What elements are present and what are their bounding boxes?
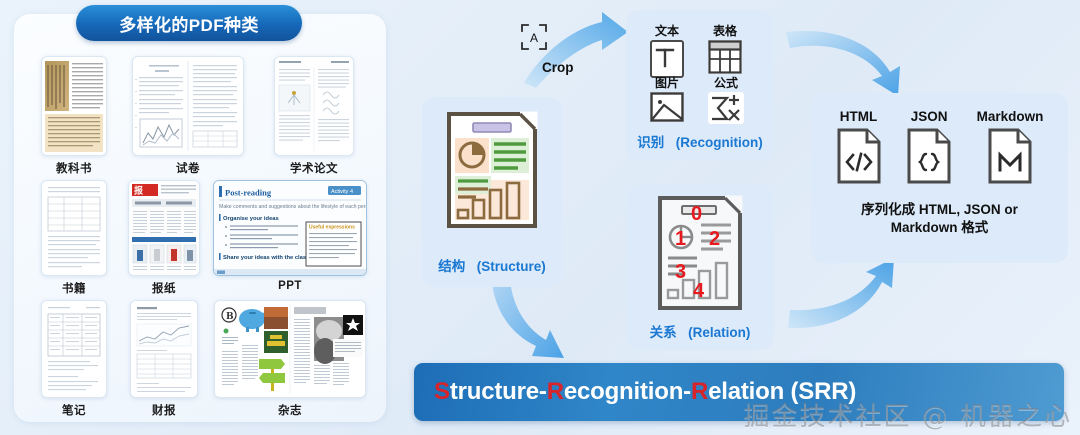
recognition-item-label: 图片 (655, 74, 679, 91)
output-format-markdown[interactable]: Markdown (977, 109, 1044, 185)
relation-label: 关系 (Relation) (626, 321, 774, 341)
pdf-card-label: 教科书 (56, 160, 92, 176)
pdf-types-panel: 多样化的PDF种类 (14, 14, 386, 422)
output-format-label: Markdown (977, 109, 1044, 124)
output-format-json[interactable]: JSON (906, 109, 952, 185)
thumbnail-finance (130, 300, 198, 398)
output-format-list: HTML JSON (811, 109, 1068, 185)
thumbnail-slide: Post-reading Activity 4 Make comments an… (213, 180, 367, 276)
relation-marker-3: 3 (675, 261, 686, 283)
output-caption: 序列化成 HTML, JSON or Markdown 格式 (811, 201, 1068, 237)
pdf-card-label: 笔记 (62, 402, 86, 418)
srr-pipeline-diagram: A Crop (396, 0, 1080, 435)
recognition-item-formula[interactable]: 公式 (708, 74, 744, 124)
pdf-card-exam[interactable]: 试卷 (124, 56, 252, 176)
output-format-label: HTML (840, 109, 878, 124)
svg-text:B: B (226, 312, 234, 322)
watermark: 掘金技术社区 @ 机器之心 (743, 396, 1072, 433)
pdf-card-paper[interactable]: 学术论文 (252, 56, 376, 176)
text-t-icon (650, 40, 684, 78)
markdown-file-icon (987, 127, 1033, 185)
relation-label-en: (Relation) (688, 325, 750, 340)
card-row: 教科书 (24, 56, 376, 176)
relation-marker-1: 1 (675, 228, 686, 250)
pdf-card-newspaper[interactable]: 报 (124, 180, 204, 296)
slide-bullet-2: Share your ideas with the class (223, 255, 309, 261)
output-panel[interactable]: HTML JSON (811, 93, 1068, 263)
slide-subtitle: Make comments and suggestions about the … (219, 204, 367, 210)
recognition-panel[interactable]: 文本 表格 图片 (626, 10, 774, 160)
pdf-card-label: 试卷 (176, 160, 200, 176)
pdf-card-book[interactable]: 书籍 (24, 180, 124, 296)
structure-label-cn: 结构 (438, 259, 465, 274)
recognition-item-image[interactable]: 图片 (650, 74, 684, 122)
pdf-card-label: 财报 (152, 402, 176, 418)
recognition-item-label: 公式 (714, 74, 738, 91)
relation-markers: 0 1 2 3 4 (657, 195, 743, 311)
thumbnail-note (41, 300, 107, 398)
thumbnail-paper (274, 56, 354, 156)
svg-text:A: A (530, 31, 538, 45)
svg-text:报: 报 (134, 185, 143, 197)
arrow-relation-output (788, 258, 894, 328)
recognition-label-cn: 识别 (637, 135, 664, 150)
arrow-recognition-output (786, 31, 900, 96)
recognition-label-en: (Recognition) (676, 135, 763, 150)
recognition-item-table[interactable]: 表格 (708, 22, 742, 74)
slide-heading: Post-reading (225, 188, 272, 198)
output-format-html[interactable]: HTML (836, 109, 882, 185)
output-format-label: JSON (911, 109, 948, 124)
image-picture-icon (650, 92, 684, 122)
pdf-card-label: 学术论文 (290, 160, 338, 176)
thumbnail-book (41, 180, 107, 276)
thumbnail-magazine: B (214, 300, 366, 398)
relation-label-cn: 关系 (650, 325, 677, 340)
recognition-item-label: 表格 (713, 22, 737, 39)
formula-sigma-icon (708, 92, 744, 124)
pdf-card-slide[interactable]: Post-reading Activity 4 Make comments an… (204, 180, 376, 296)
pdf-type-grid: 教科书 (24, 56, 376, 422)
crop-label: Crop (542, 60, 574, 75)
output-caption-line-1: 序列化成 HTML, JSON or (811, 201, 1068, 219)
relation-marker-0: 0 (691, 203, 702, 225)
pdf-card-label: 报纸 (152, 280, 176, 296)
recognition-item-text[interactable]: 文本 (650, 22, 684, 78)
html-file-icon (836, 127, 882, 185)
pdf-card-label: 书籍 (62, 280, 86, 296)
panel-title: 多样化的PDF种类 (76, 5, 302, 41)
pdf-card-finance[interactable]: 财报 (124, 300, 204, 418)
card-row: 书籍 报 (24, 180, 376, 296)
relation-panel[interactable]: 0 1 2 3 4 关系 (Relation) (626, 185, 774, 350)
structure-label-en: (Structure) (477, 259, 546, 274)
thumbnail-newspaper: 报 (128, 180, 200, 276)
structure-document-icon (446, 111, 538, 229)
slide-badge: Activity 4 (331, 189, 353, 195)
relation-marker-2: 2 (709, 228, 720, 250)
recognition-label: 识别 (Recognition) (626, 131, 774, 151)
pdf-card-label: PPT (278, 280, 302, 292)
slide-bullet-1: Organise your ideas (223, 216, 279, 222)
pdf-card-magazine[interactable]: B (204, 300, 376, 418)
json-file-icon (906, 127, 952, 185)
crop-brackets-a-icon: A (521, 24, 547, 50)
card-row: 笔记 (24, 300, 376, 418)
structure-panel[interactable]: 结构 (Structure) (422, 97, 562, 287)
recognition-item-label: 文本 (655, 22, 679, 39)
pdf-card-note[interactable]: 笔记 (24, 300, 124, 418)
output-caption-line-2: Markdown 格式 (811, 219, 1068, 237)
structure-label: 结构 (Structure) (422, 255, 562, 275)
slide-box-title: Useful expressions (309, 225, 355, 231)
pdf-card-manuscript[interactable]: 教科书 (24, 56, 124, 176)
relation-marker-4: 4 (693, 280, 705, 302)
thumbnail-exam (132, 56, 244, 156)
pdf-card-label: 杂志 (278, 402, 302, 418)
thumbnail-manuscript (41, 56, 107, 156)
table-grid-icon (708, 40, 742, 74)
